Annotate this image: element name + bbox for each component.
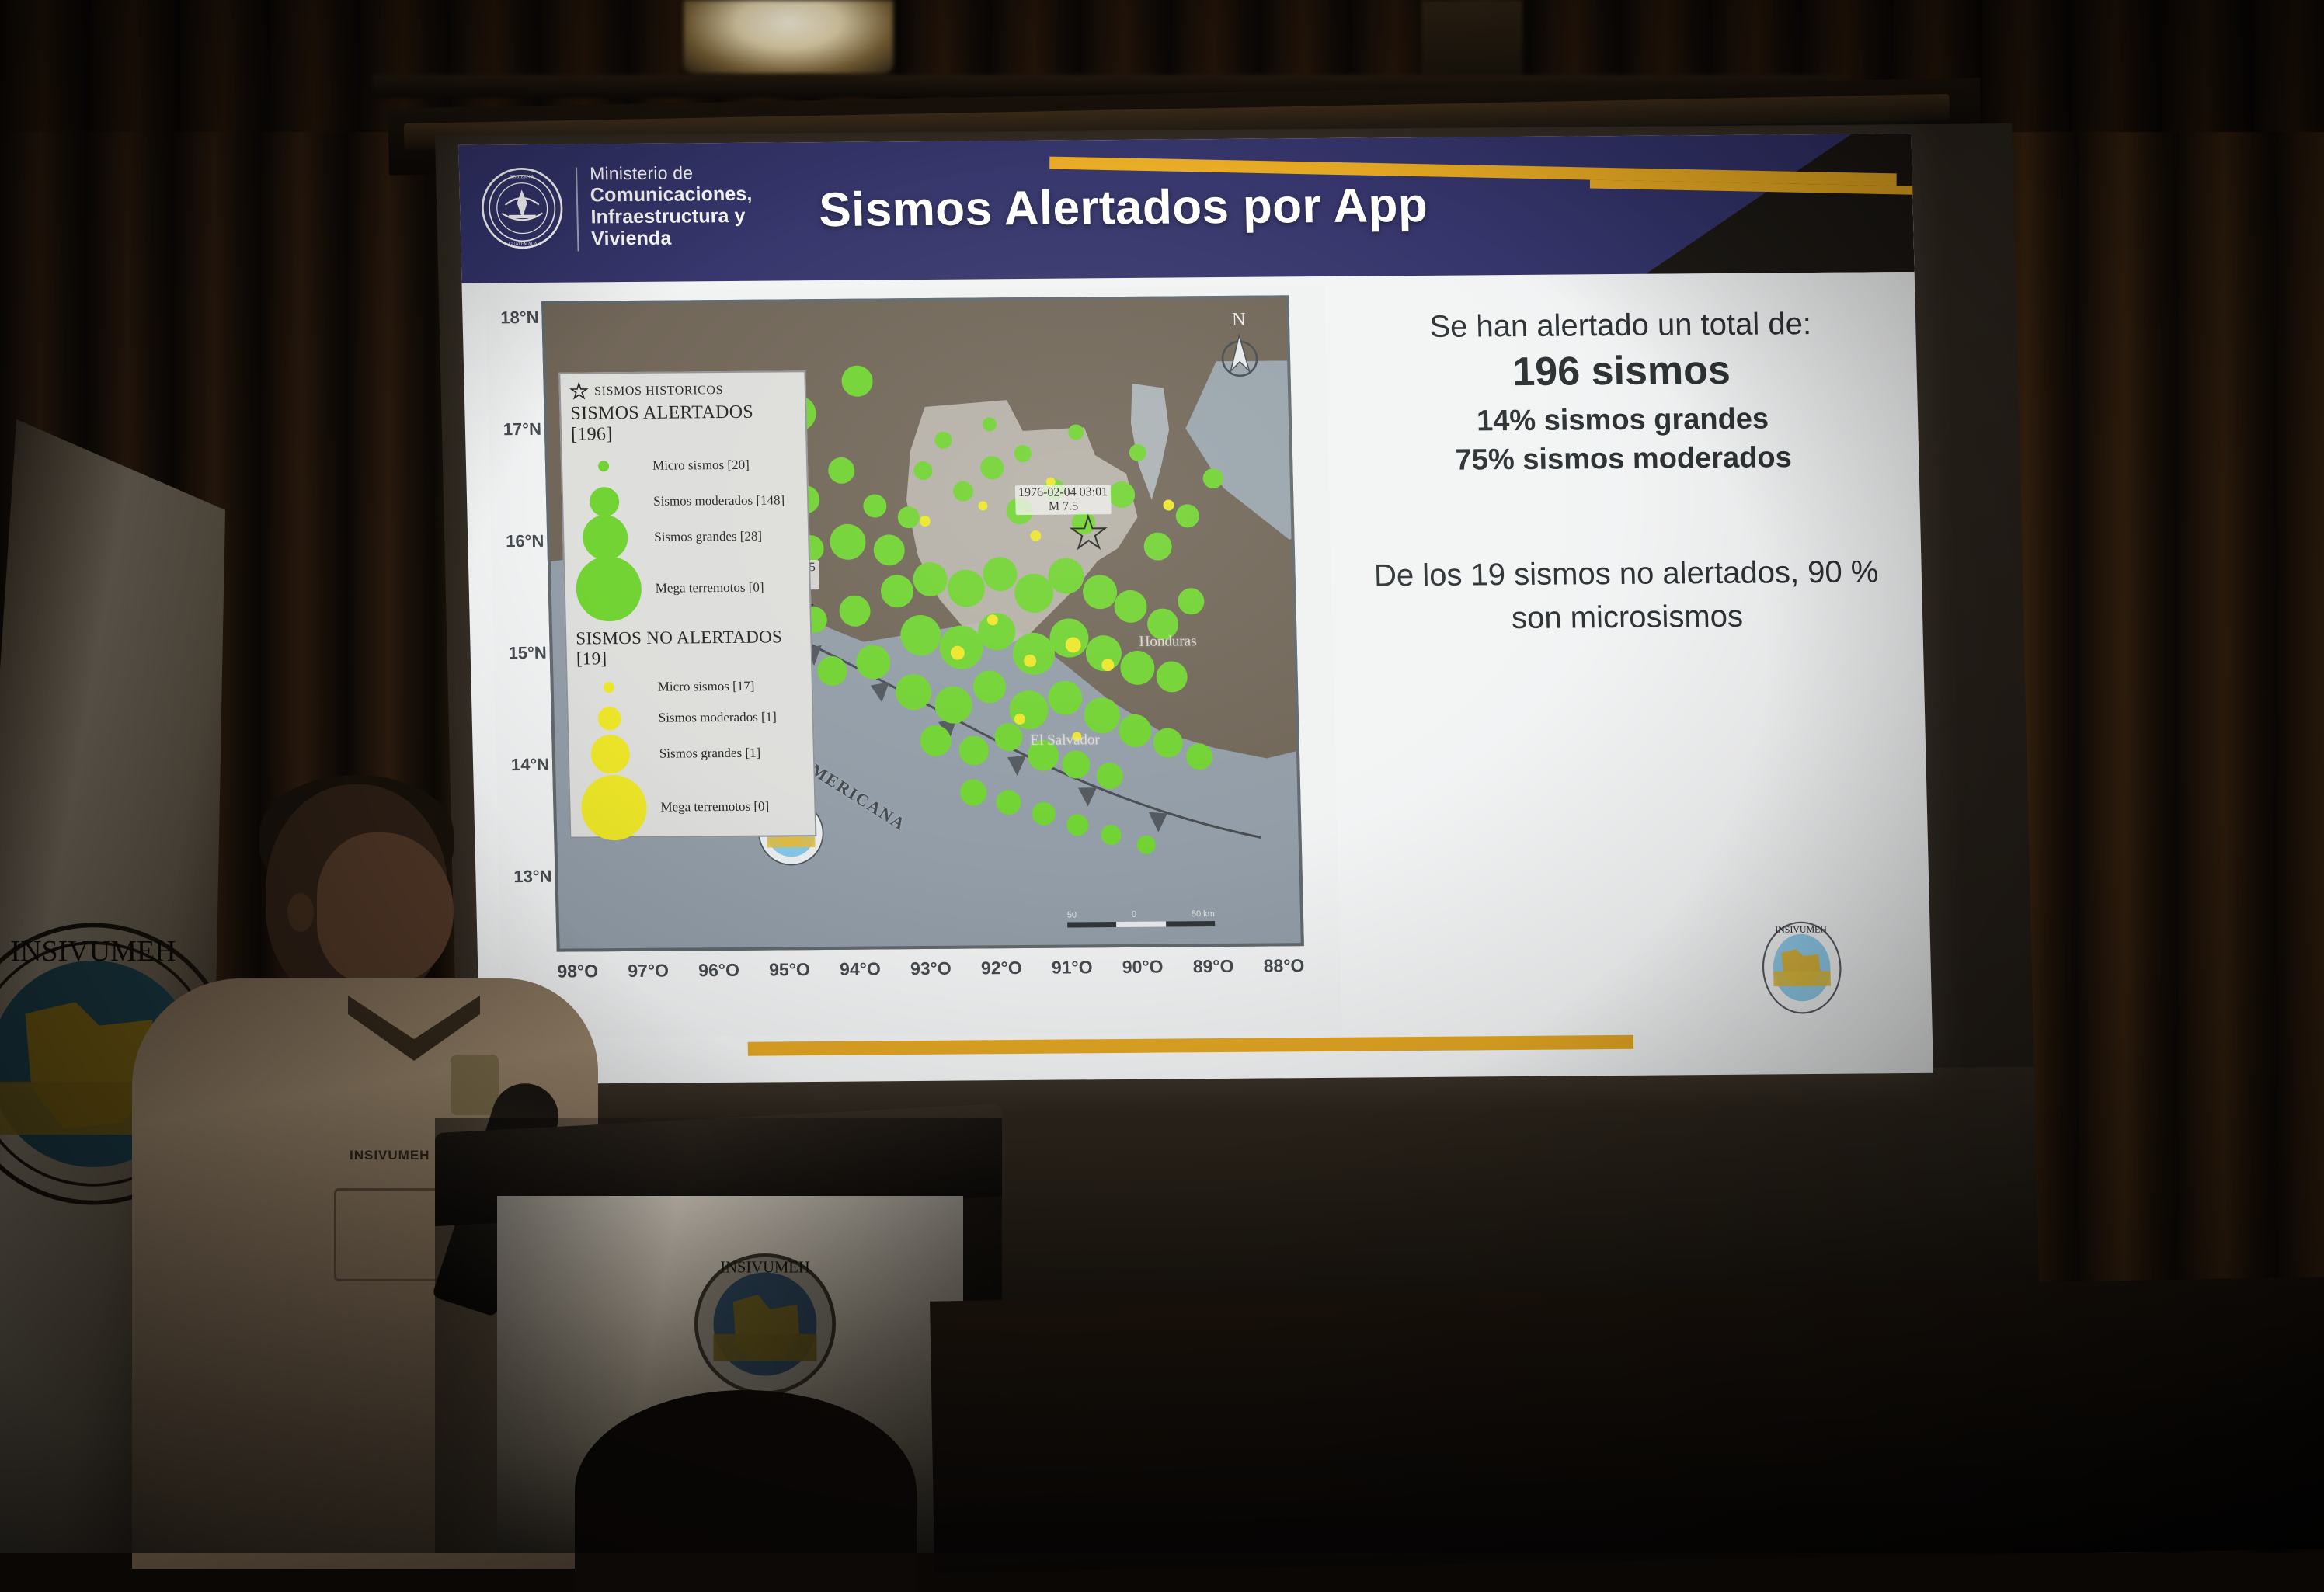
legend-alerted-heading: SISMOS ALERTADOS [196] xyxy=(570,401,796,445)
legend-not-alerted-heading: SISMOS NO ALERTADOS [19] xyxy=(576,627,802,669)
quake-marker xyxy=(1084,697,1120,733)
summary-line-1: Se han alertado un total de: xyxy=(1348,306,1893,345)
quake-marker xyxy=(972,670,1006,703)
quake-marker xyxy=(863,494,887,517)
quake-marker xyxy=(958,735,989,765)
ministry-line-4: Vivienda xyxy=(591,226,778,249)
legend-item: Sismos grandes [1] xyxy=(578,732,804,774)
x-tick-92O: 92°O xyxy=(981,958,1022,978)
slide-title: Sismos Alertados por App xyxy=(819,178,1428,238)
scale-tick-1: 0 xyxy=(1132,910,1136,919)
legend-swatch xyxy=(597,707,621,730)
ministry-line-1: Ministerio de xyxy=(590,163,777,185)
quake-marker xyxy=(830,524,866,560)
scale-tick-0: 50 xyxy=(1067,910,1077,919)
quake-marker xyxy=(1108,481,1136,508)
legend-swatch xyxy=(583,515,628,560)
legend-swatch xyxy=(576,556,642,622)
legend-swatch xyxy=(598,461,609,471)
legend-label: Sismos grandes [1] xyxy=(659,746,761,762)
summary-pct-grandes: 14% sismos grandes xyxy=(1350,398,1894,442)
quake-marker xyxy=(953,481,974,502)
summary-pct-moderados: 75% sismos moderados xyxy=(1352,437,1896,481)
quake-marker xyxy=(983,557,1018,591)
quake-marker xyxy=(1062,750,1091,778)
quake-marker xyxy=(934,432,952,449)
ministry-line-3: Infraestructura y xyxy=(590,204,778,228)
summary-text-panel: Se han alertado un total de: 196 sismos … xyxy=(1348,306,1900,641)
quake-marker xyxy=(841,366,873,397)
quake-marker xyxy=(960,779,987,805)
quake-marker xyxy=(1048,558,1084,593)
quake-marker-unalerted xyxy=(1024,655,1036,667)
y-tick-15N: 15°N xyxy=(498,643,547,663)
legend-swatch xyxy=(590,487,620,516)
x-tick-95O: 95°O xyxy=(769,959,810,980)
quake-marker-unalerted xyxy=(978,501,987,510)
legend-item: Micro sismos [17] xyxy=(576,670,802,703)
legend-item: Micro sismos [20] xyxy=(572,447,798,484)
scale-seg-2 xyxy=(1116,922,1165,927)
label-el-salvador: El Salvador xyxy=(1030,732,1100,749)
audience-head-silhouette xyxy=(575,1390,917,1592)
presenter-shirt-name: INSIVUMEH xyxy=(350,1148,430,1163)
presenter-shoulder-patch xyxy=(451,1055,499,1115)
quake-marker xyxy=(897,506,920,528)
conference-room-scene: GOBIERNO GUATEMALA Ministerio de Comunic… xyxy=(0,0,2324,1553)
north-arrow-label: N xyxy=(1232,310,1246,330)
quake-marker-unalerted xyxy=(1014,714,1025,725)
quake-marker xyxy=(1032,802,1056,826)
map-legend: ★ SISMOS HISTORICOS SISMOS ALERTADOS [19… xyxy=(558,370,816,838)
historic-star-icon: ★ xyxy=(1069,511,1109,554)
legend-swatch xyxy=(590,735,630,773)
svg-text:GUATEMALA: GUATEMALA xyxy=(509,242,538,246)
legend-label: Mega terremotos [0] xyxy=(660,799,769,815)
quake-marker xyxy=(1156,661,1188,692)
quake-marker xyxy=(1101,825,1122,845)
north-arrow-icon: N xyxy=(1212,310,1268,385)
quake-marker-unalerted xyxy=(987,614,998,625)
legend-item: Sismos moderados [1] xyxy=(577,701,803,734)
quake-marker xyxy=(1114,590,1147,623)
quake-marker xyxy=(895,674,931,710)
quake-marker xyxy=(1096,763,1123,789)
x-tick-89O: 89°O xyxy=(1192,956,1233,977)
quake-marker xyxy=(1136,836,1156,854)
svg-text:INSIVUMEH: INSIVUMEH xyxy=(1775,923,1827,935)
quake-marker xyxy=(1120,651,1155,685)
x-tick-96O: 96°O xyxy=(698,960,739,981)
scale-tick-2: 50 km xyxy=(1192,909,1215,919)
quake-marker xyxy=(1068,424,1084,440)
map-canvas: Mexico Honduras El Salvador FOSA MESOAME… xyxy=(541,295,1304,951)
legend-historic-label: SISMOS HISTORICOS xyxy=(594,384,723,398)
legend-label: Sismos moderados [148] xyxy=(653,492,785,509)
summary-total: 196 sismos xyxy=(1349,346,1894,396)
quake-marker xyxy=(1014,574,1053,613)
ceiling-light xyxy=(684,0,893,75)
quake-marker-unalerted xyxy=(1163,499,1174,510)
quake-marker xyxy=(947,569,985,607)
svg-text:INSIVUMEH: INSIVUMEH xyxy=(10,935,176,968)
quake-marker xyxy=(1009,690,1049,729)
quake-marker xyxy=(817,656,847,686)
ministry-line-2: Comunicaciones, xyxy=(590,182,778,206)
guatemala-government-seal-icon: GOBIERNO GUATEMALA xyxy=(479,166,565,251)
x-tick-97O: 97°O xyxy=(628,961,669,982)
quake-marker xyxy=(1014,445,1032,462)
y-tick-17N: 17°N xyxy=(493,419,542,440)
star-icon: ★ xyxy=(570,381,589,401)
legend-label: Micro sismos [17] xyxy=(658,679,755,695)
legend-item: Mega terremotos [0] xyxy=(574,554,801,622)
quake-marker xyxy=(983,417,997,431)
footer-accent-bar xyxy=(748,1035,1634,1056)
quake-marker-unalerted xyxy=(951,646,965,660)
y-tick-16N: 16°N xyxy=(496,531,544,551)
quake-marker-unalerted xyxy=(1101,659,1114,671)
foreground-table xyxy=(930,1277,2324,1573)
quake-marker xyxy=(913,562,948,596)
quake-marker xyxy=(873,534,905,565)
quake-marker xyxy=(839,596,871,627)
svg-text:GOBIERNO: GOBIERNO xyxy=(510,175,534,179)
quake-marker xyxy=(880,575,913,607)
quake-marker xyxy=(934,687,972,724)
map-x-axis: 98°O 97°O 96°O 95°O 94°O 93°O 92°O 91°O … xyxy=(557,955,1305,982)
quake-marker-unalerted xyxy=(1030,530,1041,541)
quake-marker-unalerted xyxy=(1065,637,1080,652)
legend-historic-row: ★ SISMOS HISTORICOS xyxy=(570,380,796,401)
y-tick-14N: 14°N xyxy=(501,755,550,775)
quake-marker xyxy=(1012,633,1055,675)
legend-item: Sismos grandes [28] xyxy=(573,518,799,555)
quake-marker xyxy=(920,725,952,756)
presenter-ear xyxy=(287,893,314,932)
label-honduras: Honduras xyxy=(1139,633,1196,651)
quake-marker xyxy=(1153,728,1183,757)
quake-marker xyxy=(900,615,941,655)
y-tick-18N: 18°N xyxy=(490,308,539,328)
scale-seg-1 xyxy=(1067,922,1116,927)
summary-not-alerted: De los 19 sismos no alertados, 90 % son … xyxy=(1354,551,1900,641)
quake-marker xyxy=(856,645,891,679)
map-scale-bar: 50 0 50 km xyxy=(1067,909,1216,927)
quake-marker xyxy=(1178,588,1205,614)
scale-seg-3 xyxy=(1166,921,1215,926)
x-tick-94O: 94°O xyxy=(840,958,881,979)
quake-marker xyxy=(1186,743,1213,770)
legend-label: Sismos moderados [1] xyxy=(659,709,778,725)
quake-marker xyxy=(828,457,855,484)
legend-swatch xyxy=(604,682,614,693)
quake-marker xyxy=(1143,533,1172,561)
quake-marker xyxy=(1066,814,1089,836)
legend-label: Sismos grandes [28] xyxy=(654,529,762,545)
x-tick-91O: 91°O xyxy=(1052,957,1093,978)
x-tick-88O: 88°O xyxy=(1263,955,1304,976)
quake-marker xyxy=(913,461,933,480)
quake-marker xyxy=(1048,680,1083,714)
presenter-face xyxy=(317,832,454,985)
x-tick-93O: 93°O xyxy=(910,958,952,979)
legend-label: Mega terremotos [0] xyxy=(656,580,764,596)
quake-marker xyxy=(980,456,1004,479)
ministry-block: Ministerio de Comunicaciones, Infraestru… xyxy=(590,163,778,250)
quake-marker xyxy=(1083,575,1118,609)
quake-marker xyxy=(1175,504,1199,527)
insivumeh-logo-slide-icon: INSIVUMEH xyxy=(1759,919,1845,1017)
quake-marker xyxy=(1202,468,1223,488)
presentation-slide: GOBIERNO GUATEMALA Ministerio de Comunic… xyxy=(458,134,1933,1084)
quake-marker-unalerted xyxy=(920,516,931,527)
legend-label: Micro sismos [20] xyxy=(652,457,750,474)
quake-marker xyxy=(1129,444,1147,461)
quake-marker xyxy=(1119,714,1152,747)
quake-marker xyxy=(996,790,1021,815)
x-tick-90O: 90°O xyxy=(1122,957,1164,978)
quake-marker xyxy=(994,723,1023,751)
